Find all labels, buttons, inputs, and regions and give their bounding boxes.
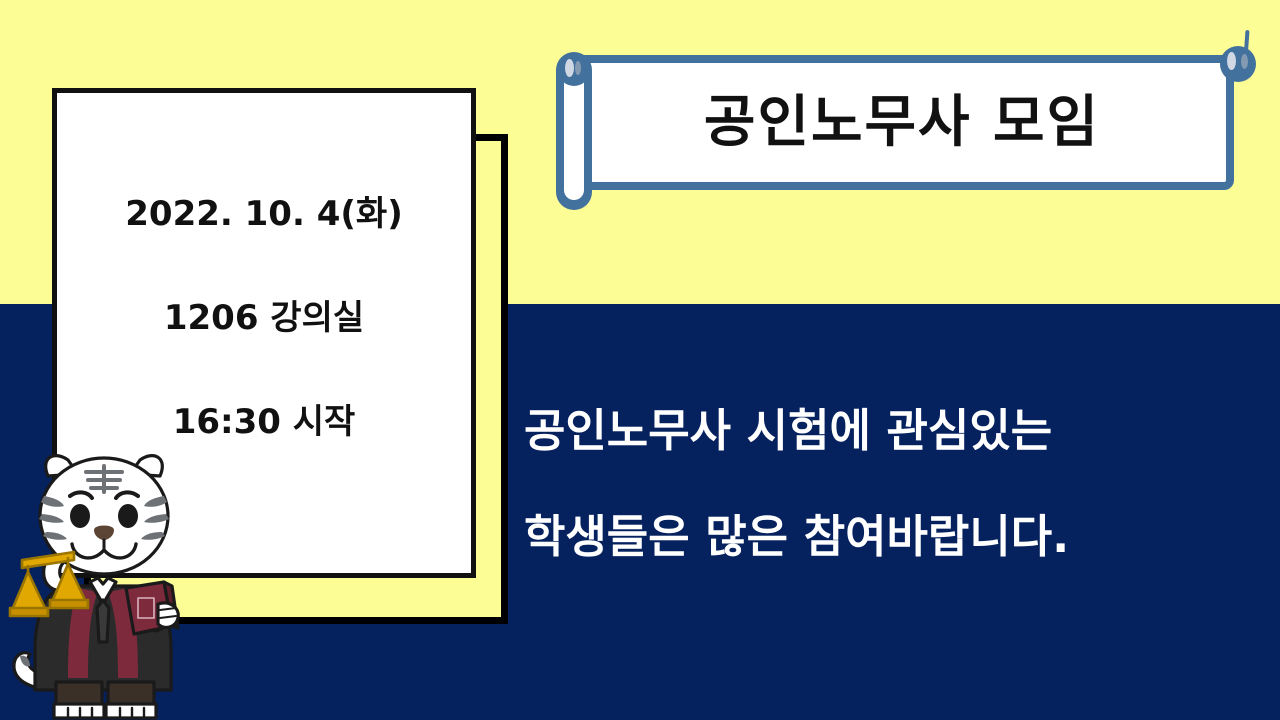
event-start-time: 16:30 시작 <box>173 405 356 439</box>
scroll-knob-right-icon <box>1220 46 1256 82</box>
scroll-roll-left-knob-icon <box>558 54 590 86</box>
scroll-roll-left-icon <box>556 52 592 210</box>
tiger-judge-mascot-icon <box>8 440 238 720</box>
announcement-message: 공인노무사 시험에 관심있는 학생들은 많은 참여바랍니다. <box>524 378 1280 590</box>
title-banner: 공인노무사 모임 <box>556 30 1256 205</box>
tiger-judge-mascot <box>8 440 238 720</box>
scroll-roll-left-highlight <box>565 59 574 77</box>
page-title: 공인노무사 모임 <box>704 95 1100 151</box>
event-date: 2022. 10. 4(화) <box>125 197 402 231</box>
announcement-line-1: 공인노무사 시험에 관심있는 <box>524 378 1280 484</box>
title-banner-sheet: 공인노무사 모임 <box>570 55 1234 190</box>
tiger-eye-right <box>118 504 138 528</box>
necktie <box>97 600 109 642</box>
announcement-line-2: 학생들은 많은 참여바랍니다. <box>524 484 1280 590</box>
scroll-knob-right-shade <box>1241 54 1248 69</box>
event-room: 1206 강의실 <box>164 301 364 335</box>
scroll-roll-left-shade <box>575 61 581 75</box>
poster: 공인노무사 모임 2022. 10. 4(화) 1206 강의실 16:30 시… <box>0 0 1280 720</box>
tiger-eye-left <box>70 504 90 528</box>
scroll-knob-right-highlight <box>1227 52 1236 70</box>
